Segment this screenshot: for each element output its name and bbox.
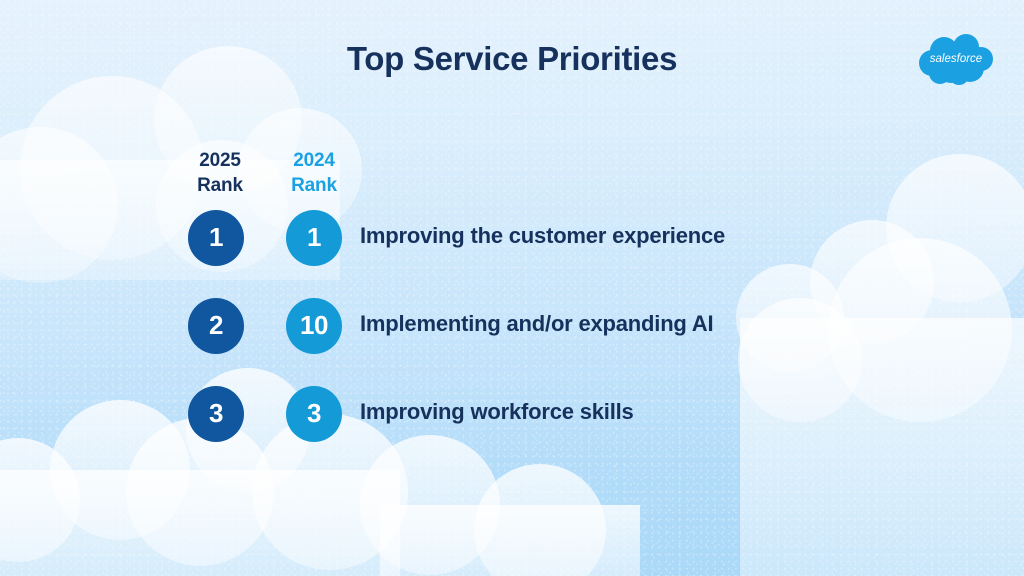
rank-badge-2024: 3 — [286, 386, 342, 442]
column-header-2025-rank: 2025 Rank — [176, 148, 264, 198]
priority-label: Implementing and/or expanding AI — [360, 311, 713, 337]
rank-badge-2025-value: 3 — [209, 400, 223, 426]
rank-badge-2025: 3 — [188, 386, 244, 442]
rank-badge-2024-value: 3 — [307, 400, 321, 426]
priority-label: Improving workforce skills — [360, 399, 634, 425]
page-title: Top Service Priorities — [0, 40, 1024, 78]
column-header-2024-rank: 2024 Rank — [270, 148, 358, 198]
priority-label: Improving the customer experience — [360, 223, 725, 249]
cloud-background — [0, 0, 1024, 576]
column-header-2025-rank-label: Rank — [176, 173, 264, 198]
column-header-2025-year: 2025 — [199, 150, 240, 171]
rank-badge-2024-value: 1 — [307, 224, 321, 250]
salesforce-wordmark: salesforce — [930, 53, 982, 65]
rank-badge-2025: 2 — [188, 298, 244, 354]
slide-canvas: Top Service Priorities salesforce 2025 R… — [0, 0, 1024, 576]
cloud-shape-bottom-center — [360, 435, 640, 576]
cloud-shape-right — [736, 154, 1024, 576]
rank-badge-2025: 1 — [188, 210, 244, 266]
rank-badge-2025-value: 2 — [209, 312, 223, 338]
column-header-2024-year: 2024 — [293, 150, 334, 171]
cloud-grain-texture — [0, 0, 1024, 576]
rank-badge-2024: 1 — [286, 210, 342, 266]
column-header-2024-rank-label: Rank — [270, 173, 358, 198]
salesforce-cloud-logo-icon: salesforce — [918, 33, 994, 87]
rank-badge-2024-value: 10 — [300, 312, 328, 338]
rank-badge-2024: 10 — [286, 298, 342, 354]
rank-badge-2025-value: 1 — [209, 224, 223, 250]
